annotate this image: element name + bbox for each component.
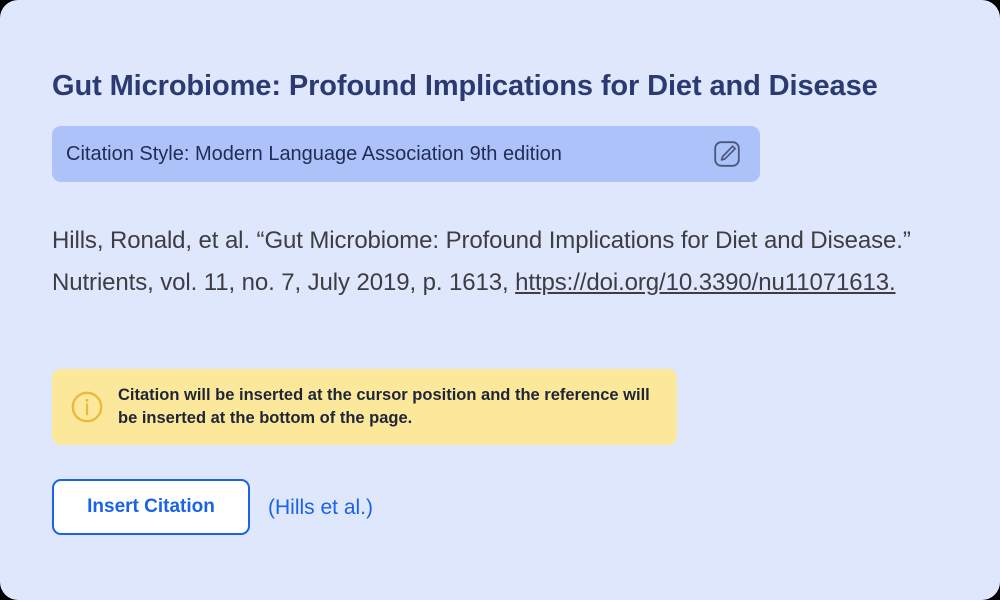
edit-pencil-square-icon[interactable]	[712, 139, 742, 169]
citation-panel: Gut Microbiome: Profound Implications fo…	[0, 0, 1000, 600]
page-title: Gut Microbiome: Profound Implications fo…	[52, 66, 932, 106]
citation-style-bar[interactable]: Citation Style: Modern Language Associat…	[52, 126, 760, 182]
insert-citation-button[interactable]: Insert Citation	[52, 479, 250, 535]
citation-style-label: Citation Style: Modern Language Associat…	[66, 141, 712, 167]
inline-citation-preview[interactable]: (Hills et al.)	[268, 494, 373, 522]
citation-text: Hills, Ronald, et al. “Gut Microbiome: P…	[52, 220, 928, 304]
info-banner-message: Citation will be inserted at the cursor …	[118, 384, 661, 430]
info-banner: Citation will be inserted at the cursor …	[52, 369, 677, 445]
info-circle-icon	[70, 390, 104, 424]
citation-doi-link[interactable]: https://doi.org/10.3390/nu11071613.	[515, 269, 895, 296]
